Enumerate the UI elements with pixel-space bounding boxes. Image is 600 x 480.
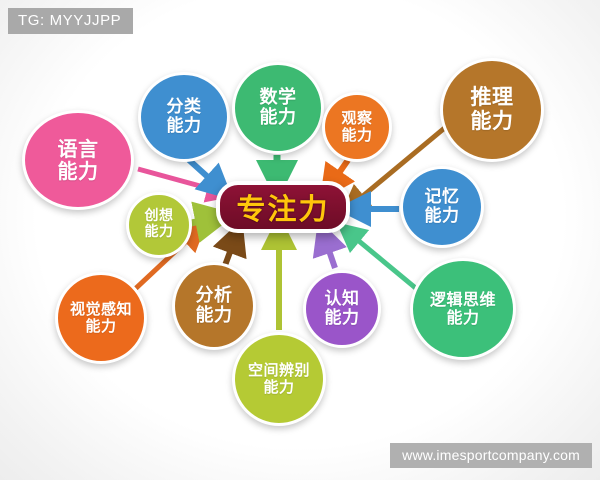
node-creative-line1: 创想 — [143, 209, 176, 225]
node-logic-line1: 逻辑思维 — [428, 291, 498, 309]
node-cognition[interactable]: 认知能力 — [303, 270, 381, 348]
node-observe[interactable]: 观察能力 — [322, 92, 392, 162]
node-language[interactable]: 语言能力 — [22, 110, 134, 210]
node-creative[interactable]: 创想能力 — [126, 192, 192, 258]
node-spatial-line2: 能力 — [246, 379, 312, 396]
diagram-canvas: 语言能力 分类能力 数学能力 观察能力 推理能力 记忆能力 逻辑思维能力 认知能… — [0, 0, 600, 480]
node-visual-line2: 能力 — [68, 318, 134, 335]
node-math[interactable]: 数学能力 — [232, 62, 324, 154]
tg-badge: TG: MYYJJPP — [8, 8, 133, 34]
node-math-line2: 能力 — [258, 108, 299, 128]
node-classify-line1: 分类 — [165, 98, 204, 117]
node-reasoning-line1: 推理 — [469, 86, 516, 110]
node-classify-line2: 能力 — [165, 117, 204, 136]
node-classify[interactable]: 分类能力 — [138, 72, 230, 162]
node-memory-line2: 能力 — [423, 207, 462, 226]
node-cognition-line2: 能力 — [323, 309, 362, 328]
node-analysis-line1: 分析 — [194, 286, 235, 306]
node-language-line2: 能力 — [56, 160, 101, 182]
watermark-url: www.imesportcompany.com — [390, 443, 592, 468]
node-logic[interactable]: 逻辑思维能力 — [410, 258, 516, 360]
node-language-line1: 语言 — [56, 138, 101, 160]
node-memory-line1: 记忆 — [423, 188, 462, 207]
node-cognition-line1: 认知 — [323, 290, 362, 309]
node-spatial-line1: 空间辨别 — [246, 362, 312, 379]
node-observe-line1: 观察 — [339, 110, 374, 127]
node-memory[interactable]: 记忆能力 — [400, 166, 484, 248]
node-reasoning-line2: 能力 — [469, 110, 516, 134]
arrow-cognition-to-center — [324, 236, 335, 268]
node-spatial[interactable]: 空间辨别能力 — [232, 332, 326, 426]
node-visual-line1: 视觉感知 — [68, 301, 134, 318]
node-analysis-line2: 能力 — [194, 306, 235, 326]
node-visual[interactable]: 视觉感知能力 — [55, 272, 147, 364]
node-reasoning[interactable]: 推理能力 — [440, 58, 544, 162]
center-node-focus[interactable]: 专注力 — [216, 181, 350, 233]
node-observe-line2: 能力 — [339, 127, 374, 144]
node-logic-line2: 能力 — [428, 309, 498, 327]
node-math-line1: 数学 — [258, 88, 299, 108]
center-node-label: 专注力 — [236, 186, 329, 228]
node-creative-line2: 能力 — [143, 225, 176, 241]
node-analysis[interactable]: 分析能力 — [172, 262, 256, 350]
